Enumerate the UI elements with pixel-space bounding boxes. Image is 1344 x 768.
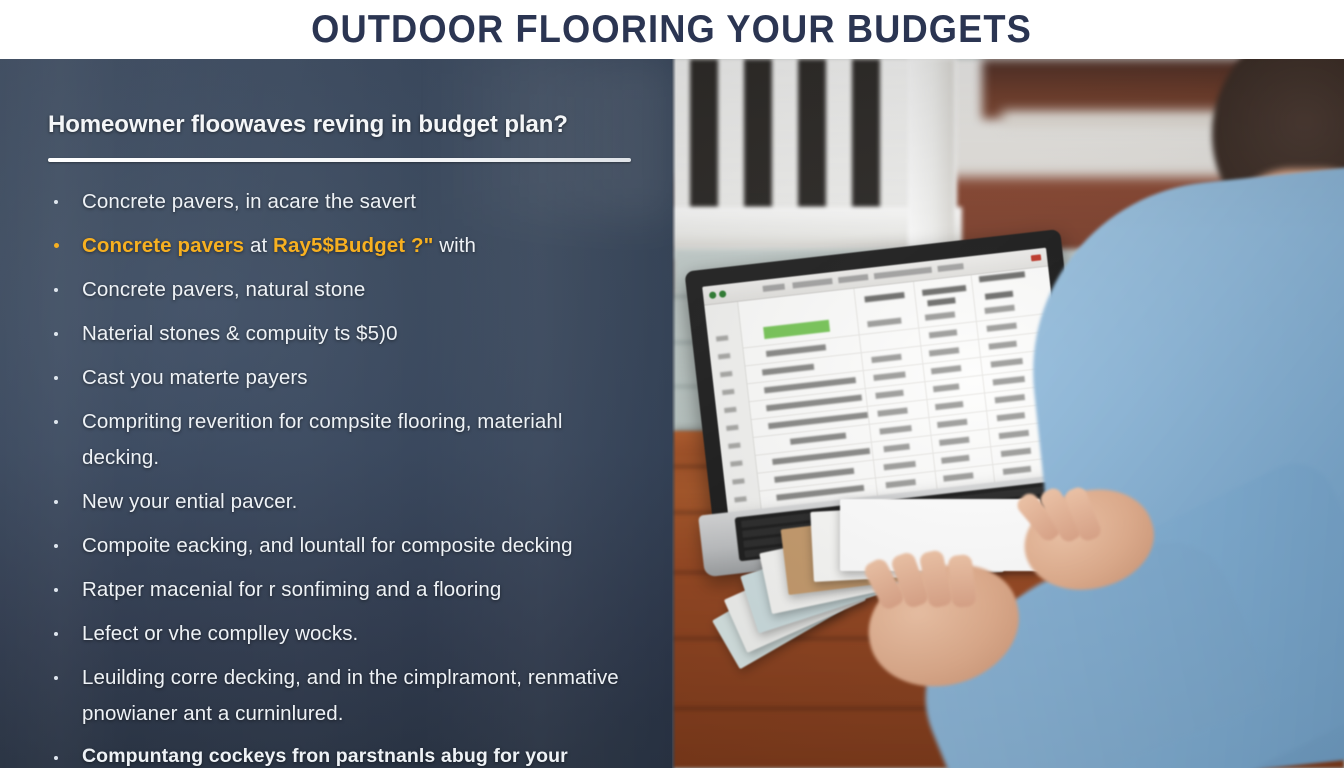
cell-value (1001, 448, 1031, 457)
list-item: Concrete pavers, natural stone (48, 272, 644, 308)
cell-value (883, 461, 915, 471)
cell-value (925, 311, 955, 320)
cell-value (939, 437, 969, 446)
list-item: Concrete pavers, in acare the savert (48, 184, 644, 220)
railing-baluster (798, 59, 826, 209)
bullet-dot-icon (54, 243, 59, 248)
cell-value (877, 407, 907, 416)
cell-value (988, 341, 1016, 350)
toolbar-menu-item (762, 283, 785, 291)
laptop-screen (702, 248, 1072, 518)
list-item-closing: Compuntang cockeys fron parstnanls abug … (48, 740, 644, 768)
bullet-dot-icon (54, 588, 58, 592)
cell-value (999, 430, 1029, 439)
list-item: Lefect or vhe complley wocks. (48, 616, 644, 652)
bullet-dot-icon (54, 676, 58, 680)
bullet-dot-icon (54, 200, 58, 204)
cell-value (875, 390, 903, 399)
cell-value (883, 443, 910, 452)
list-item-label: Ratper macenial for r sonfiming and a fl… (82, 578, 501, 601)
list-item-label: Concrete pavers, natural stone (82, 278, 365, 301)
list-item-highlighted: Concrete pavers at Ray5$Budget ?" with (48, 228, 644, 264)
bullet-dot-icon (54, 332, 58, 336)
cell-value (931, 365, 961, 374)
subtitle-divider (48, 158, 631, 162)
cell-value (943, 472, 973, 481)
cell-value (986, 322, 1016, 331)
cell-value (995, 394, 1025, 403)
railing-baluster (744, 59, 772, 209)
list-item-accent-segment-1: Concrete pavers (82, 234, 250, 257)
list-item-label: Naterial stones & compuity ts $5)0 (82, 322, 398, 345)
cell-value (997, 412, 1025, 421)
list-item-label: Compriting reverition for compsite floor… (82, 410, 563, 469)
toolbar-menu-item (937, 263, 964, 272)
list-item: Compoite eacking, and lountall for compo… (48, 528, 644, 564)
header-band: OUTDOOR FLOORING YOUR BUDGETS (0, 0, 1344, 59)
toolbar-menu-item (792, 278, 832, 288)
list-item-accent-segment-2: Ray5$Budget ?" (273, 234, 433, 257)
bullet-dot-icon (54, 420, 58, 424)
column-header (985, 291, 1013, 300)
list-item: Ratper macenial for r sonfiming and a fl… (48, 572, 644, 608)
bullet-list: Concrete pavers, in acare the savert Con… (48, 184, 644, 768)
cell-value (937, 419, 967, 428)
slide-page: OUTDOOR FLOORING YOUR BUDGETS Homeowner … (0, 0, 1344, 768)
cell-value (984, 305, 1014, 314)
toolbar-menu-item (838, 274, 868, 283)
bullet-dot-icon (54, 288, 58, 292)
list-item-label: Compoite eacking, and lountall for compo… (82, 534, 573, 557)
highlighted-cell (763, 320, 830, 339)
cell-value (929, 329, 957, 338)
list-item: Compriting reverition for compsite floor… (48, 404, 644, 476)
toolbar-menu-item (874, 267, 932, 280)
toolbar-dot-icon (709, 291, 717, 299)
list-item: Naterial stones & compuity ts $5)0 (48, 316, 644, 352)
panel-subtitle: Homeowner floowaves reving in budget pla… (48, 111, 644, 139)
cell-value (1003, 466, 1031, 475)
bullet-dot-icon (54, 544, 58, 548)
column-header (864, 292, 904, 302)
panel-content: Homeowner floowaves reving in budget pla… (0, 59, 672, 768)
bullet-dot-icon (54, 500, 58, 504)
cell-value (935, 401, 963, 410)
list-item-label: Compuntang cockeys fron parstnanls abug … (82, 745, 568, 768)
cell-value (929, 347, 959, 356)
close-icon (1031, 254, 1042, 261)
cell-value (991, 358, 1023, 368)
cell-value (933, 383, 960, 392)
list-item: New your ential pavcer. (48, 484, 644, 520)
list-item-plain-segment-1: at (250, 234, 273, 257)
page-title: OUTDOOR FLOORING YOUR BUDGETS (312, 10, 1033, 49)
list-item-label: New your ential pavcer. (82, 490, 297, 513)
bullet-dot-icon (54, 376, 58, 380)
toolbar-dot-icon (719, 290, 727, 298)
column-header (922, 285, 966, 296)
cell-value (993, 376, 1025, 386)
list-item-label: Leuilding corre decking, and in the cimp… (82, 666, 619, 725)
cell-value (873, 371, 905, 381)
list-item: Leuilding corre decking, and in the cimp… (48, 660, 644, 732)
list-item-label: Lefect or vhe complley wocks. (82, 622, 358, 645)
cell-value (871, 354, 901, 363)
photo-illustration (672, 59, 1344, 768)
bullet-dot-icon (54, 632, 58, 636)
list-item-plain-segment-2: with (439, 234, 476, 257)
cell-text (790, 433, 846, 445)
column-header (927, 297, 955, 306)
railing-baluster (852, 59, 880, 209)
cell-text (762, 364, 814, 376)
railing-baluster (690, 59, 718, 209)
list-item-label: Concrete pavers, in acare the savert (82, 190, 416, 213)
cell-value (941, 455, 969, 464)
bullet-dot-icon (54, 756, 58, 760)
cell-text (766, 344, 826, 357)
content-panel: Homeowner floowaves reving in budget pla… (0, 59, 672, 768)
cell-value (879, 425, 911, 435)
cell-value (867, 318, 901, 328)
column-header (979, 271, 1025, 282)
list-item-label: Cast you materte payers (82, 366, 308, 389)
list-item: Cast you materte payers (48, 360, 644, 396)
cell-value (886, 479, 916, 488)
